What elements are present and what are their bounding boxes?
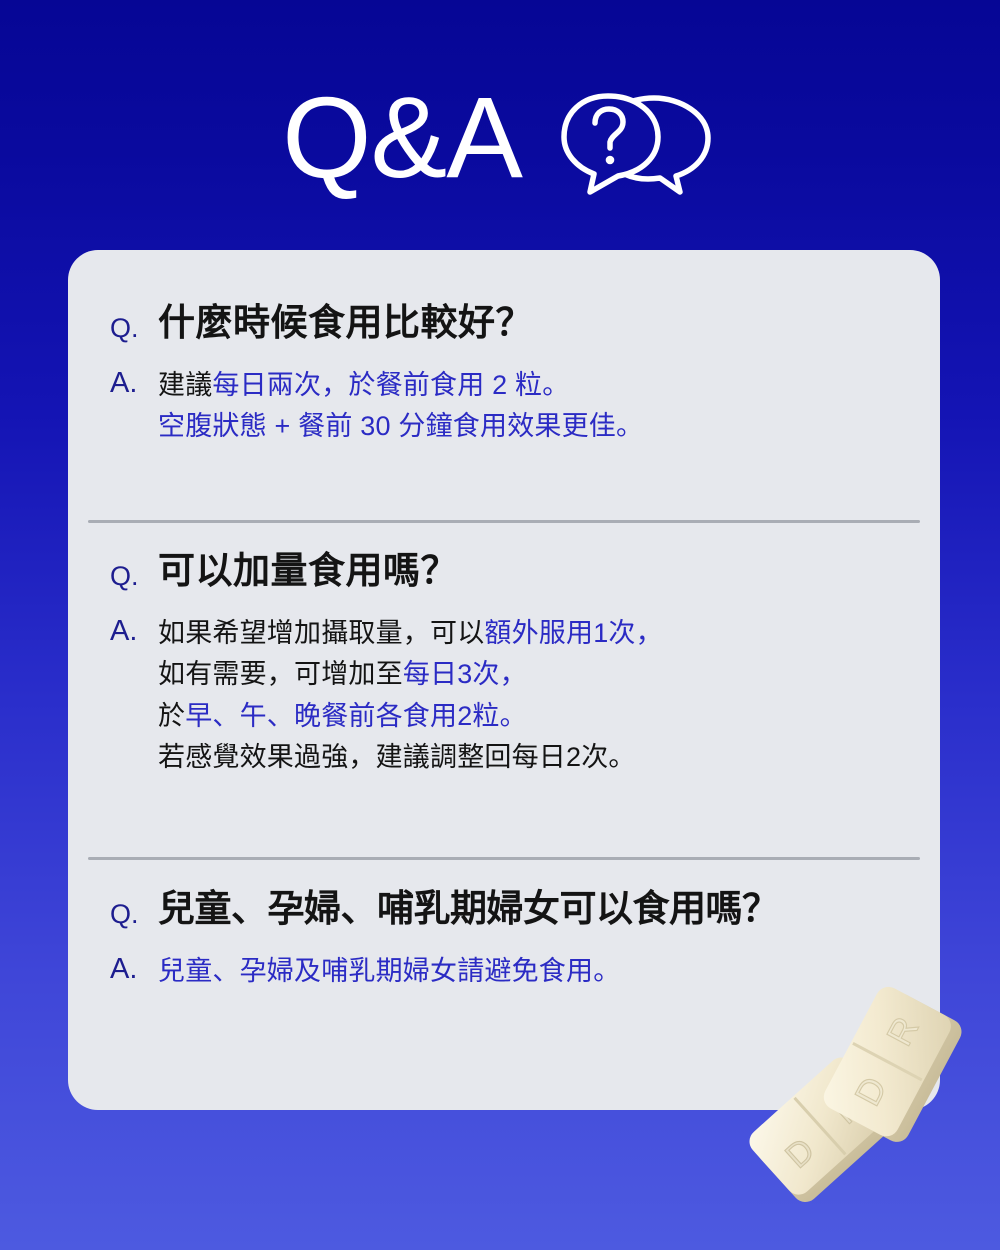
faq-question-row: Q. 什麼時候食用比較好？ <box>110 302 900 343</box>
answer-segment: 若感覺效果過強，建議調整回每日2次。 <box>158 742 636 772</box>
answer-segment: 空腹狀態 + 餐前 30 分鐘食用效果更佳。 <box>158 411 643 441</box>
answer-marker: A. <box>110 951 158 984</box>
answer-line: 若感覺效果過強，建議調整回每日2次。 <box>158 737 663 778</box>
answer-segment: 兒童、孕婦及哺乳期婦女請避免食用。 <box>158 956 620 986</box>
page-title: Q&A <box>282 81 522 196</box>
answer-line: 建議每日兩次，於餐前食用 2 粒。 <box>158 365 643 406</box>
question-marker: Q. <box>110 888 158 928</box>
question-marker: Q. <box>110 302 158 342</box>
faq-card: Q. 什麼時候食用比較好？ A. 建議每日兩次，於餐前食用 2 粒。空腹狀態 +… <box>68 250 940 1110</box>
answer-marker: A. <box>110 613 158 646</box>
answer-segment: 如果希望增加攝取量，可以 <box>158 618 484 648</box>
faq-item-2: Q. 可以加量食用嗎？ A. 如果希望增加攝取量，可以額外服用1次，如有需要，可… <box>110 550 900 778</box>
answer-segment: 每日兩次，於餐前食用 2 粒。 <box>212 370 569 400</box>
question-marker: Q. <box>110 550 158 590</box>
faq-answer-text: 建議每日兩次，於餐前食用 2 粒。空腹狀態 + 餐前 30 分鐘食用效果更佳。 <box>158 365 643 447</box>
faq-question-text: 可以加量食用嗎？ <box>158 550 458 591</box>
spacer <box>110 929 930 951</box>
speech-bubbles-question-icon <box>548 90 718 198</box>
faq-answer-text: 兒童、孕婦及哺乳期婦女請避免食用。 <box>158 951 620 992</box>
answer-segment: 早、午、晚餐前各食用2粒。 <box>185 701 527 731</box>
faq-question-row: Q. 可以加量食用嗎？ <box>110 550 900 591</box>
answer-segment: 於 <box>158 701 185 731</box>
spacer <box>110 343 900 365</box>
answer-segment: 如有需要，可增加至 <box>158 659 403 689</box>
faq-divider <box>88 857 920 860</box>
answer-line: 兒童、孕婦及哺乳期婦女請避免食用。 <box>158 951 620 992</box>
answer-marker: A. <box>110 365 158 398</box>
answer-segment: 額外服用1次， <box>484 618 662 648</box>
faq-item-3: Q. 兒童、孕婦、哺乳期婦女可以食用嗎？ A. 兒童、孕婦及哺乳期婦女請避免食用… <box>110 888 930 992</box>
answer-line: 於早、午、晚餐前各食用2粒。 <box>158 696 663 737</box>
faq-question-text: 兒童、孕婦、哺乳期婦女可以食用嗎？ <box>158 888 779 929</box>
answer-line: 如果希望增加攝取量，可以額外服用1次， <box>158 613 663 654</box>
faq-answer-row: A. 如果希望增加攝取量，可以額外服用1次，如有需要，可增加至每日3次，於早、午… <box>110 613 900 777</box>
faq-divider <box>88 520 920 523</box>
faq-answer-row: A. 建議每日兩次，於餐前食用 2 粒。空腹狀態 + 餐前 30 分鐘食用效果更… <box>110 365 900 447</box>
answer-line: 空腹狀態 + 餐前 30 分鐘食用效果更佳。 <box>158 406 643 447</box>
answer-line: 如有需要，可增加至每日3次， <box>158 654 663 695</box>
faq-item-1: Q. 什麼時候食用比較好？ A. 建議每日兩次，於餐前食用 2 粒。空腹狀態 +… <box>110 302 900 448</box>
page-header: Q&A <box>0 78 1000 206</box>
svg-text:D: D <box>778 1131 822 1176</box>
answer-segment: 建議 <box>158 370 212 400</box>
faq-question-row: Q. 兒童、孕婦、哺乳期婦女可以食用嗎？ <box>110 888 930 929</box>
faq-question-text: 什麼時候食用比較好？ <box>158 302 533 343</box>
answer-segment: 每日3次， <box>403 659 527 689</box>
faq-answer-text: 如果希望增加攝取量，可以額外服用1次，如有需要，可增加至每日3次，於早、午、晚餐… <box>158 613 663 777</box>
spacer <box>110 591 900 613</box>
faq-answer-row: A. 兒童、孕婦及哺乳期婦女請避免食用。 <box>110 951 930 992</box>
